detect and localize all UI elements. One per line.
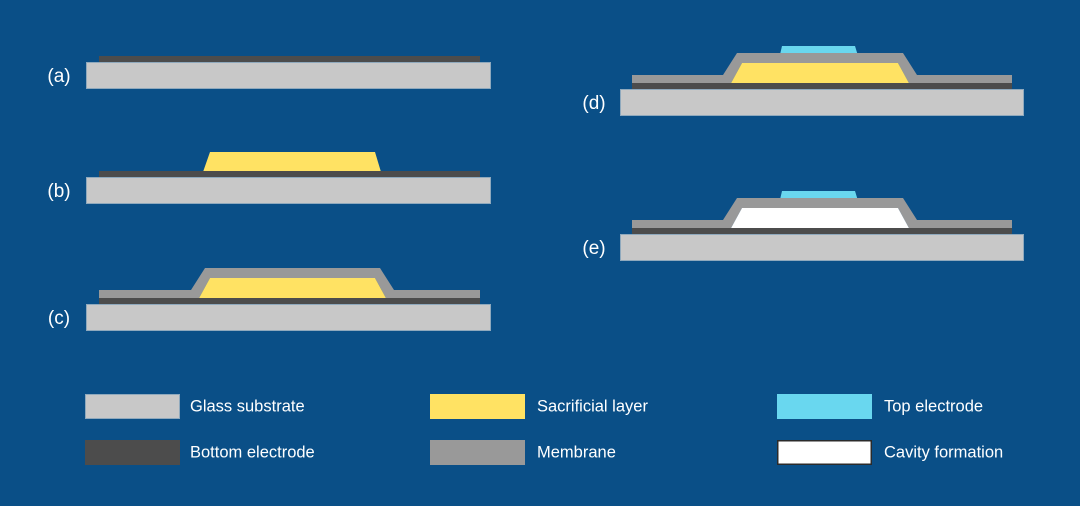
panel-a: (a) <box>47 56 491 89</box>
legend-swatch-top-electrode <box>777 394 872 419</box>
legend-swatch-glass-substrate <box>85 394 180 419</box>
legend-swatch-membrane <box>430 440 525 465</box>
legend-label-top-electrode: Top electrode <box>884 397 983 415</box>
panel-c-sacrificial-layer <box>198 278 387 300</box>
legend-swatch-sacrificial-layer <box>430 394 525 419</box>
panel-e-cavity-formation <box>730 208 910 230</box>
panel-c-label: (c) <box>48 308 70 329</box>
panel-c-glass-substrate <box>86 304 491 331</box>
legend-label-membrane: Membrane <box>537 443 616 461</box>
panel-e-label: (e) <box>582 238 605 259</box>
legend-label-glass-substrate: Glass substrate <box>190 397 305 415</box>
legend-item-bottom-electrode: Bottom electrode <box>85 440 315 465</box>
legend-item-cavity-formation: Cavity formation <box>777 440 1003 465</box>
legend-swatch-cavity-formation <box>777 440 872 465</box>
panel-b-sacrificial-layer <box>203 152 381 172</box>
legend-item-membrane: Membrane <box>430 440 616 465</box>
panel-b-label: (b) <box>47 181 70 202</box>
panel-e-glass-substrate <box>620 234 1024 261</box>
panel-d-sacrificial-layer <box>730 63 910 85</box>
legend-item-sacrificial-layer: Sacrificial layer <box>430 394 648 419</box>
panel-a-glass-substrate <box>86 62 491 89</box>
legend-item-glass-substrate: Glass substrate <box>85 394 305 419</box>
legend-label-bottom-electrode: Bottom electrode <box>190 443 315 461</box>
legend-swatch-bottom-electrode <box>85 440 180 465</box>
panel-d-glass-substrate <box>620 89 1024 116</box>
process-flow-figure: (a) (b) (c) (d) (e) <box>0 0 1080 506</box>
panel-a-label: (a) <box>47 66 70 87</box>
panel-b-glass-substrate <box>86 177 491 204</box>
legend-label-cavity-formation: Cavity formation <box>884 443 1003 461</box>
panel-d-label: (d) <box>582 93 605 114</box>
legend-label-sacrificial-layer: Sacrificial layer <box>537 397 648 415</box>
